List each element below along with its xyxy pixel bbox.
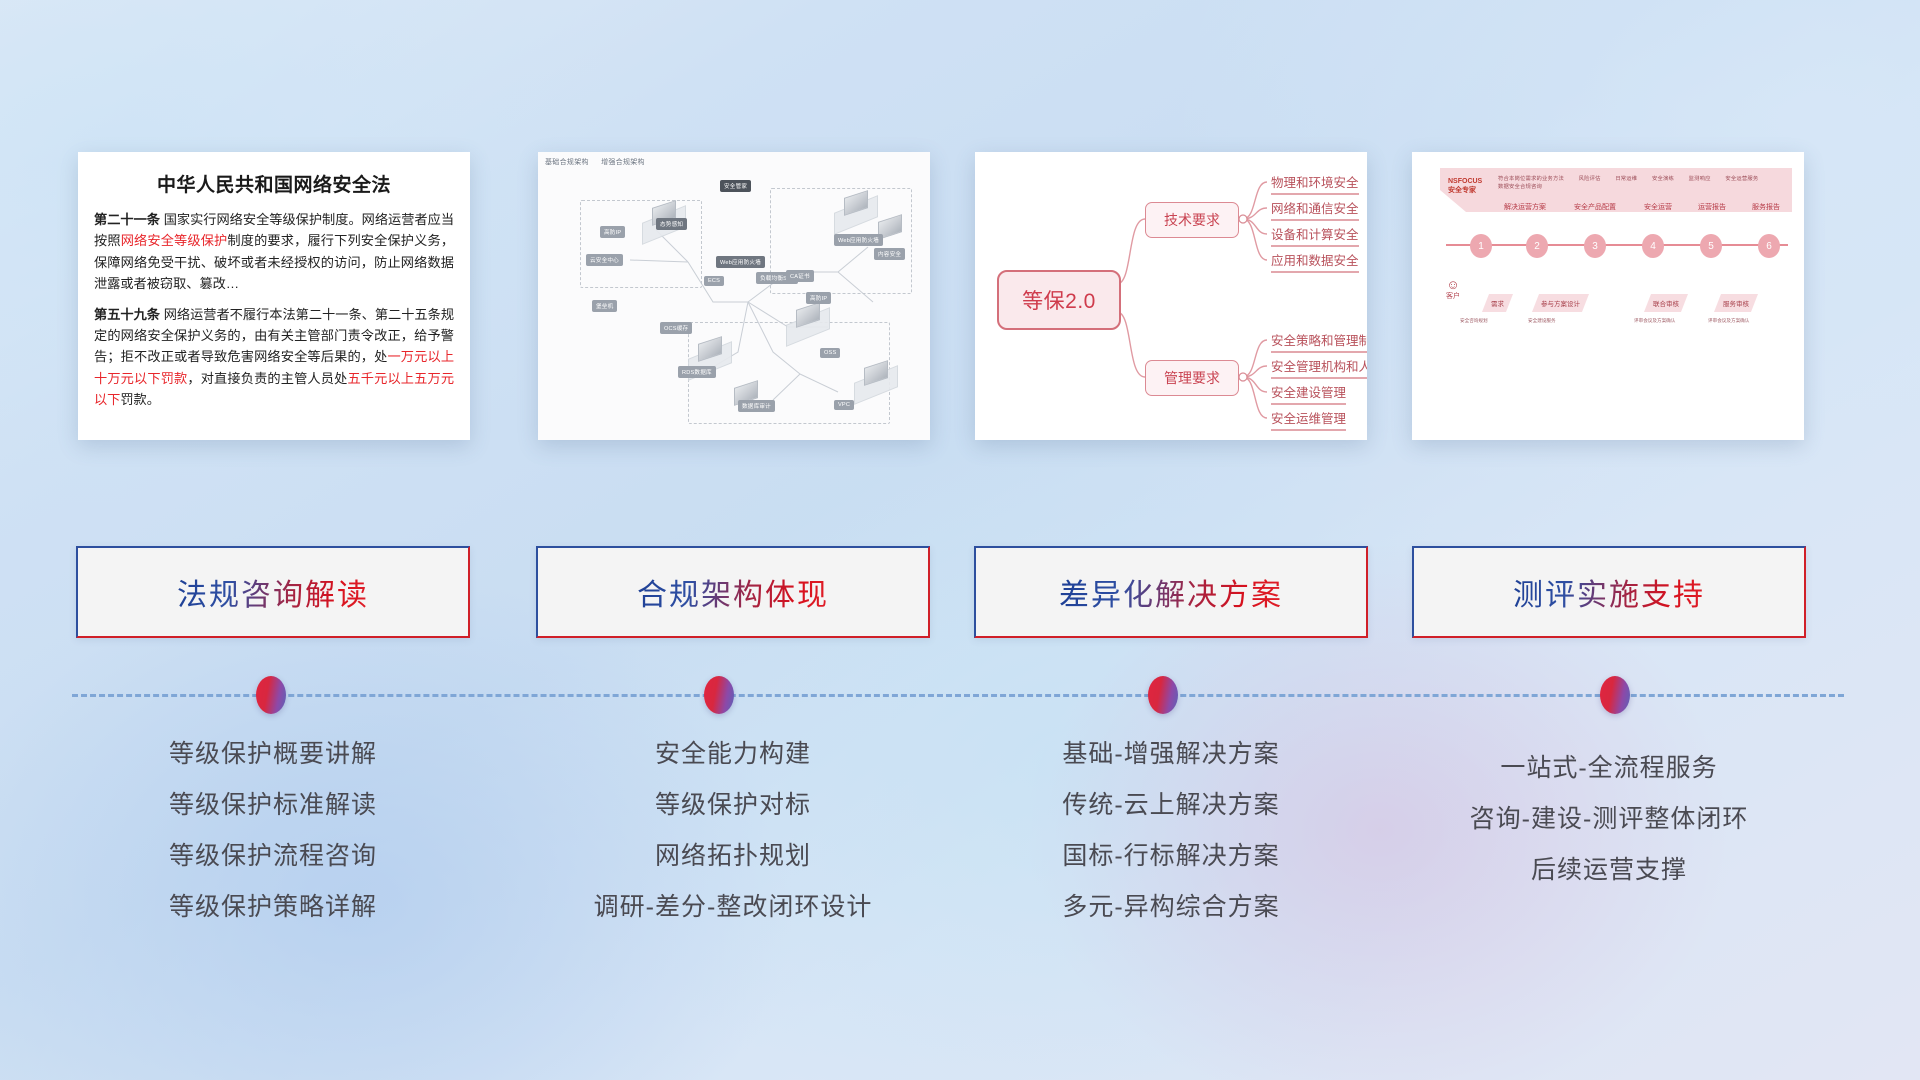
list-item: 多元-异构综合方案 xyxy=(974,895,1368,920)
roadmap-service-2: 安全运营 xyxy=(1644,202,1672,212)
header-item-1: 风险评估 xyxy=(1579,174,1601,182)
list-item: 等级保护概要讲解 xyxy=(76,742,470,767)
mindmap-leaf-construction-mgmt: 安全建设管理 xyxy=(1271,382,1346,405)
node-ocs-cache: OCS缓存 xyxy=(660,322,692,334)
card-mindmap: 等保2.0 技术要求 管理要求 物理和环境安全 网络和通信安全 设备和计算安全 … xyxy=(975,152,1367,440)
timeline-dot-2 xyxy=(704,676,734,714)
node-database-audit: 数据库审计 xyxy=(738,400,775,412)
header-item-3: 安全演练 xyxy=(1652,174,1674,182)
timeline-dot-3 xyxy=(1148,676,1178,714)
list-item: 咨询-建设-测评整体闭环 xyxy=(1412,807,1806,832)
list-item: 等级保护标准解读 xyxy=(76,793,470,818)
roadmap-step-4: 4 xyxy=(1642,234,1664,258)
mindmap-leaf-device-compute: 设备和计算安全 xyxy=(1271,224,1359,247)
roadmap-canvas: NSFOCUS安全专家 符合本岗位需求的业务方法 风险评估 日常运维 安全演练 … xyxy=(1412,152,1804,440)
list-item: 等级保护对标 xyxy=(536,793,930,818)
node-vpc: VPC xyxy=(834,400,854,410)
node-ecs: ECS xyxy=(704,276,724,286)
header-item-5: 安全运营服务 xyxy=(1725,174,1758,182)
roadmap-sub-0: 安全咨询规划 xyxy=(1460,318,1488,324)
timeline-dot-4 xyxy=(1600,676,1630,714)
roadmap-persona-label: 客户 xyxy=(1446,291,1460,301)
card-architecture-diagram: 基础合规架构 增强合规架构 xyxy=(538,152,930,440)
node-ca-certificate: CA证书 xyxy=(786,270,814,282)
title-label-2: 差异化解决方案 xyxy=(1059,570,1283,614)
mindmap-leaf-org-personnel: 安全管理机构和人员 xyxy=(1271,356,1367,379)
roadmap-service-3: 运营报告 xyxy=(1698,202,1726,212)
mindmap-canvas: 等保2.0 技术要求 管理要求 物理和环境安全 网络和通信安全 设备和计算安全 … xyxy=(975,152,1367,440)
law-document: 中华人民共和国网络安全法 第二十一条 国家实行网络安全等级保护制度。网络运营者应… xyxy=(78,152,470,440)
card-roadmap: NSFOCUS安全专家 符合本岗位需求的业务方法 风险评估 日常运维 安全演练 … xyxy=(1412,152,1804,440)
list-item: 国标-行标解决方案 xyxy=(974,844,1368,869)
roadmap-sub-1: 安全建设服务 xyxy=(1528,318,1556,324)
list-item: 一站式-全流程服务 xyxy=(1412,756,1806,781)
roadmap-step-5: 5 xyxy=(1700,234,1722,258)
card-law-text: 中华人民共和国网络安全法 第二十一条 国家实行网络安全等级保护制度。网络运营者应… xyxy=(78,152,470,440)
title-box-compliance-architecture[interactable]: 合规架构体现 xyxy=(536,546,930,638)
law-article-59: 第五十九条 网络运营者不履行本法第二十一条、第二十五条规定的网络安全保护义务的，… xyxy=(94,304,454,411)
architecture-canvas: 基础合规架构 增强合规架构 xyxy=(538,152,930,440)
title-box-evaluation-support[interactable]: 测评实施支持 xyxy=(1412,546,1806,638)
mindmap-leaf-policy-system: 安全策略和管理制度 xyxy=(1271,330,1367,353)
roadmap-brand: NSFOCUS安全专家 xyxy=(1448,178,1482,196)
roadmap-persona: ☺ 客户 xyxy=(1446,278,1460,301)
header-item-6: 数据安全合规咨询 xyxy=(1498,182,1542,190)
header-item-2: 日常运维 xyxy=(1615,174,1637,182)
node-situational-awareness: 态势感知 xyxy=(656,218,687,230)
roadmap-sub-2: 评审会议及方案确认 xyxy=(1634,318,1675,324)
roadmap-tag-1: 参与方案设计 xyxy=(1532,294,1589,312)
title-label-0: 法规咨询解读 xyxy=(177,570,369,614)
mindmap-branch-technical: 技术要求 xyxy=(1145,202,1239,238)
node-waf-2: Web应用防火墙 xyxy=(834,234,883,246)
node-high-defense-ip-2: 高防IP xyxy=(806,292,831,304)
list-item: 传统-云上解决方案 xyxy=(974,793,1368,818)
article-21-highlight: 网络安全等级保护 xyxy=(121,233,228,248)
title-label-1: 合规架构体现 xyxy=(637,570,829,614)
node-security-manager: 安全管家 xyxy=(720,180,751,192)
list-compliance-architecture: 安全能力构建 等级保护对标 网络拓扑规划 调研-差分-整改闭环设计 xyxy=(536,742,930,946)
title-label-3: 测评实施支持 xyxy=(1513,570,1705,614)
law-article-21: 第二十一条 国家实行网络安全等级保护制度。网络运营者应当按照网络安全等级保护制度… xyxy=(94,209,454,295)
roadmap-timeline-line xyxy=(1446,244,1788,246)
list-differentiated-solution: 基础-增强解决方案 传统-云上解决方案 国标-行标解决方案 多元-异构综合方案 xyxy=(974,742,1368,946)
list-item: 网络拓扑规划 xyxy=(536,844,930,869)
roadmap-tag-3: 服务审核 xyxy=(1714,294,1758,312)
list-item: 调研-差分-整改闭环设计 xyxy=(536,895,930,920)
list-item: 等级保护策略详解 xyxy=(76,895,470,920)
roadmap-tag-2: 联合审核 xyxy=(1644,294,1688,312)
roadmap-header-items: 符合本岗位需求的业务方法 风险评估 日常运维 安全演练 监测响应 安全运营服务 … xyxy=(1498,174,1804,190)
list-item: 后续运营支撑 xyxy=(1412,858,1806,883)
mindmap-root: 等保2.0 xyxy=(997,270,1121,330)
title-box-differentiated-solution[interactable]: 差异化解决方案 xyxy=(974,546,1368,638)
slide-canvas: 中华人民共和国网络安全法 第二十一条 国家实行网络安全等级保护制度。网络运营者应… xyxy=(0,0,1920,1080)
list-item: 基础-增强解决方案 xyxy=(974,742,1368,767)
roadmap-service-4: 服务报告 xyxy=(1752,202,1780,212)
timeline-dot-1 xyxy=(256,676,286,714)
node-high-defense-ip: 高防IP xyxy=(600,226,625,238)
mindmap-leaf-network-comm: 网络和通信安全 xyxy=(1271,198,1359,221)
list-item: 安全能力构建 xyxy=(536,742,930,767)
node-content-security: 内容安全 xyxy=(874,248,905,260)
article-59-text-3: 罚款。 xyxy=(120,392,160,407)
law-title: 中华人民共和国网络安全法 xyxy=(94,170,454,197)
mindmap-leaf-app-data: 应用和数据安全 xyxy=(1271,250,1359,273)
node-cloud-security-center: 云安全中心 xyxy=(586,254,623,266)
article-59-label: 第五十九条 xyxy=(94,307,160,322)
roadmap-step-6: 6 xyxy=(1758,234,1780,258)
mindmap-leaf-physical-env: 物理和环境安全 xyxy=(1271,172,1359,195)
article-59-text-2: ，对直接负责的主管人员处 xyxy=(187,371,347,386)
roadmap-step-1: 1 xyxy=(1470,234,1492,258)
roadmap-sub-3: 评审会议及方案确认 xyxy=(1708,318,1749,324)
node-rds-database: RDS数据库 xyxy=(678,366,716,378)
node-bastion-host: 堡垒机 xyxy=(592,300,617,312)
list-evaluation-support: 一站式-全流程服务 咨询-建设-测评整体闭环 后续运营支撑 xyxy=(1412,756,1806,909)
roadmap-service-0: 解决运营方案 xyxy=(1504,202,1546,212)
title-box-regulation-consulting[interactable]: 法规咨询解读 xyxy=(76,546,470,638)
mindmap-leaf-ops-mgmt: 安全运维管理 xyxy=(1271,408,1346,431)
header-item-0: 符合本岗位需求的业务方法 xyxy=(1498,174,1564,182)
list-item: 等级保护流程咨询 xyxy=(76,844,470,869)
roadmap-step-3: 3 xyxy=(1584,234,1606,258)
roadmap-tag-0: 需求 xyxy=(1482,294,1513,312)
node-oss: OSS xyxy=(820,348,840,358)
node-waf: Web应用防火墙 xyxy=(716,256,765,268)
article-21-label: 第二十一条 xyxy=(94,212,160,227)
list-regulation-consulting: 等级保护概要讲解 等级保护标准解读 等级保护流程咨询 等级保护策略详解 xyxy=(76,742,470,946)
mindmap-branch-management: 管理要求 xyxy=(1145,360,1239,396)
roadmap-service-1: 安全产品配置 xyxy=(1574,202,1616,212)
timeline-dashed-line xyxy=(72,694,1844,697)
header-item-4: 监测响应 xyxy=(1689,174,1711,182)
roadmap-step-2: 2 xyxy=(1526,234,1548,258)
